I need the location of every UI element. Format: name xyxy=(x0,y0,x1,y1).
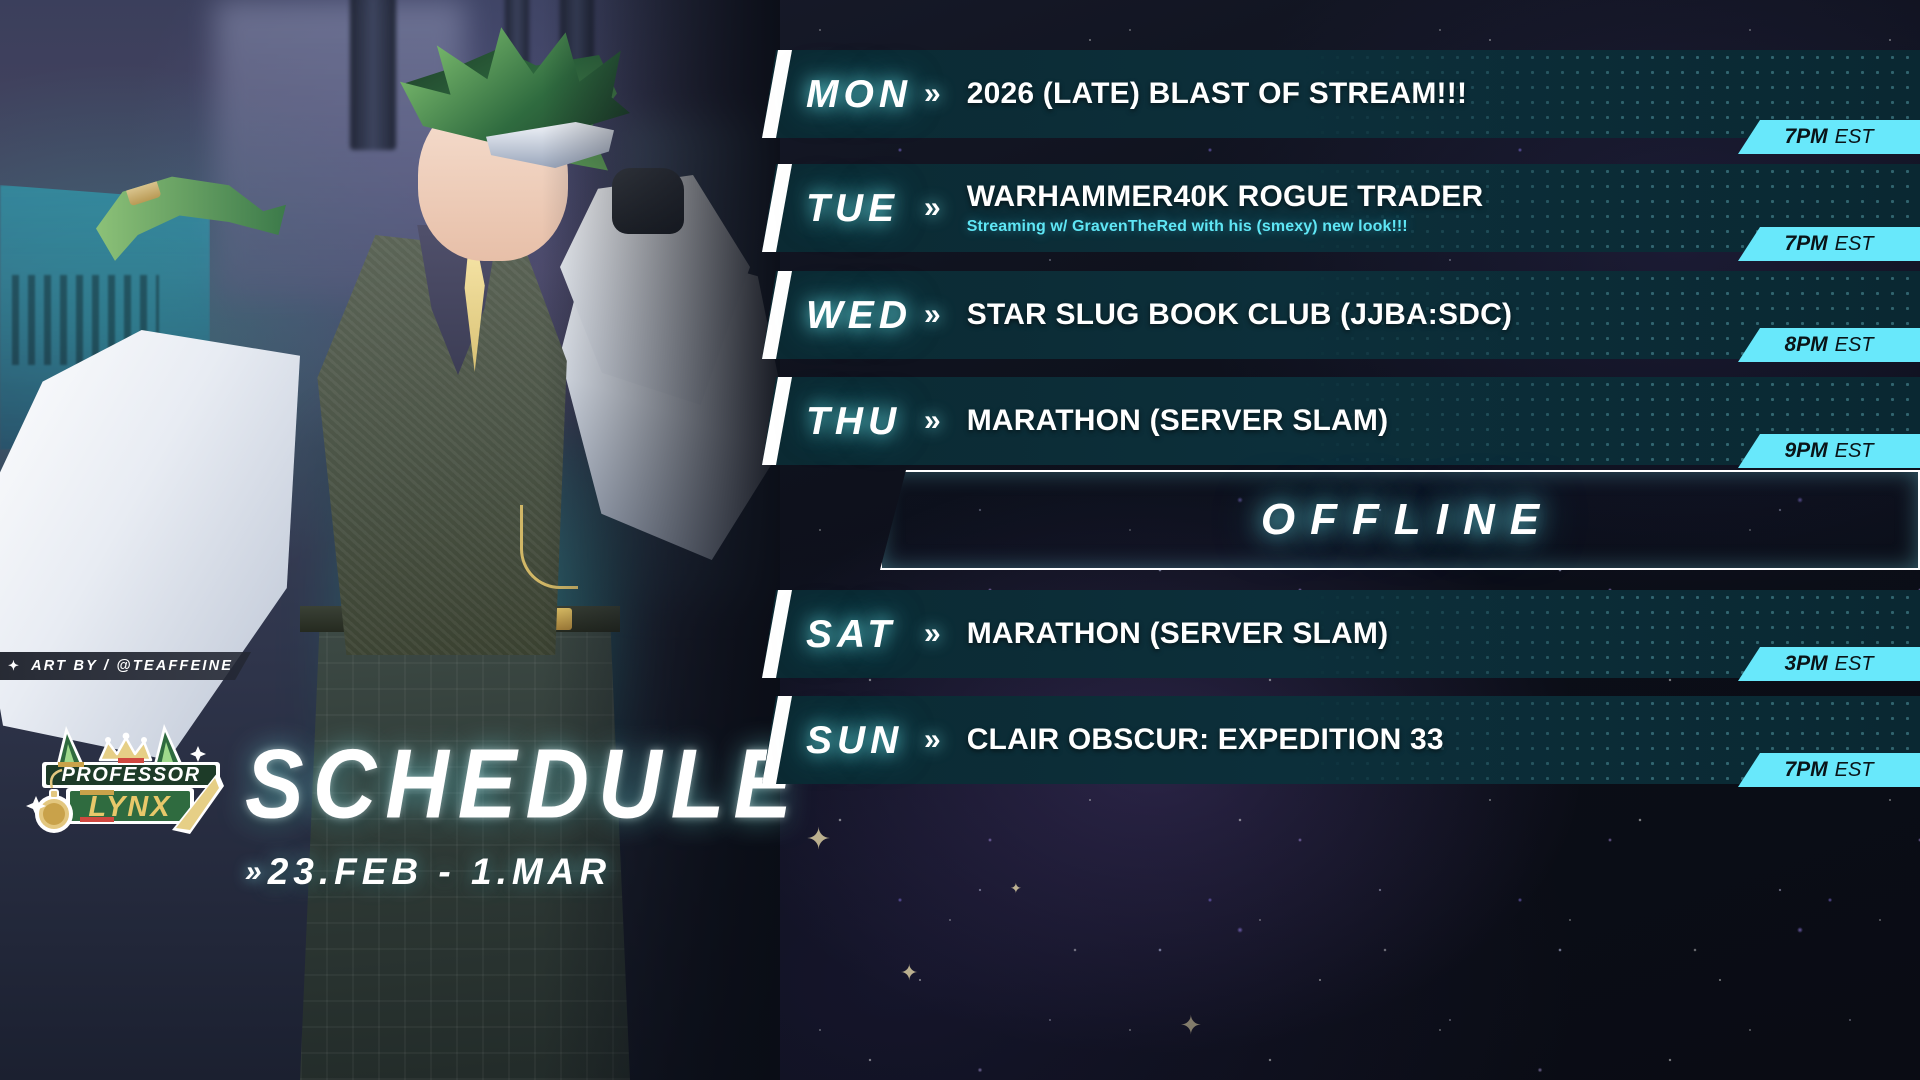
art-edge-fade xyxy=(542,0,780,1080)
schedule-row-wed[interactable]: WED » STAR SLUG BOOK CLUB (JJBA:SDC) xyxy=(762,271,1920,359)
schedule-row-mon[interactable]: MON » 2026 (LATE) BLAST OF STREAM!!! xyxy=(762,50,1920,138)
stream-title: STAR SLUG BOOK CLUB (JJBA:SDC) xyxy=(967,298,1512,333)
chevron-double-right-icon: » xyxy=(924,298,933,332)
stream-title: MARATHON (SERVER SLAM) xyxy=(967,404,1389,439)
page-title: SCHEDULE xyxy=(245,734,765,833)
timezone-label: EST xyxy=(1835,334,1874,357)
day-label-mon: MON xyxy=(806,75,914,114)
chevron-double-right-icon: » xyxy=(924,723,933,757)
art-credit-bar: ✦ ART BY / @TEAFFEINE xyxy=(0,652,251,680)
offline-label: OFFLINE xyxy=(880,470,1920,570)
chevron-double-right-icon: » xyxy=(245,855,256,889)
stream-title: CLAIR OBSCUR: EXPEDITION 33 xyxy=(967,723,1444,758)
time-badge-thu: 9PM EST xyxy=(1738,434,1920,468)
timezone-label: EST xyxy=(1835,233,1874,256)
day-label-sat: SAT xyxy=(806,615,914,654)
schedule-list: MON » 2026 (LATE) BLAST OF STREAM!!! 7PM… xyxy=(762,0,1920,1080)
character-illustration xyxy=(0,0,780,1080)
stream-title: WARHAMMER40K ROGUE TRADER xyxy=(967,180,1484,215)
schedule-row-tue[interactable]: TUE » WARHAMMER40K ROGUE TRADER Streamin… xyxy=(762,164,1920,252)
schedule-graphic: ✦ ART BY / @TEAFFEINE PROFESSOR xyxy=(0,0,1920,1080)
timezone-label: EST xyxy=(1835,440,1874,463)
time-value: 7PM xyxy=(1784,232,1827,256)
stream-title: 2026 (LATE) BLAST OF STREAM!!! xyxy=(967,77,1467,112)
date-range-line: » 23.FEB - 1.MAR xyxy=(245,851,765,893)
chevron-double-right-icon: » xyxy=(924,191,933,225)
time-value: 7PM xyxy=(1784,125,1827,149)
date-range-text: 23.FEB - 1.MAR xyxy=(268,851,611,893)
chevron-double-right-icon: » xyxy=(924,617,933,651)
day-label-sun: SUN xyxy=(806,721,914,760)
stream-title: MARATHON (SERVER SLAM) xyxy=(967,617,1389,652)
time-badge-sun: 7PM EST xyxy=(1738,753,1920,787)
time-badge-mon: 7PM EST xyxy=(1738,120,1920,154)
day-label-tue: TUE xyxy=(806,189,914,228)
chevron-double-right-icon: » xyxy=(924,404,933,438)
sparkle-icon: ✦ xyxy=(8,658,21,674)
timezone-label: EST xyxy=(1835,759,1874,782)
time-value: 7PM xyxy=(1784,758,1827,782)
logo-professor-text: PROFESSOR xyxy=(61,764,200,786)
chevron-double-right-icon: » xyxy=(924,77,933,111)
day-label-thu: THU xyxy=(806,402,914,441)
schedule-row-sat[interactable]: SAT » MARATHON (SERVER SLAM) xyxy=(762,590,1920,678)
day-label-wed: WED xyxy=(806,296,914,335)
lab-coat-left xyxy=(0,330,300,760)
art-credit-text: ART BY / @TEAFFEINE xyxy=(31,658,233,674)
time-value: 3PM xyxy=(1784,652,1827,676)
timezone-label: EST xyxy=(1835,126,1874,149)
time-value: 8PM xyxy=(1784,333,1827,357)
time-badge-sat: 3PM EST xyxy=(1738,647,1920,681)
schedule-row-sun[interactable]: SUN » CLAIR OBSCUR: EXPEDITION 33 xyxy=(762,696,1920,784)
schedule-row-offline: OFFLINE xyxy=(880,470,1920,570)
character-tail xyxy=(96,168,286,276)
schedule-title-block: SCHEDULE » 23.FEB - 1.MAR xyxy=(245,745,765,893)
timezone-label: EST xyxy=(1835,653,1874,676)
time-badge-tue: 7PM EST xyxy=(1738,227,1920,261)
professor-lynx-logo: PROFESSOR LYNX xyxy=(22,718,242,838)
time-value: 9PM xyxy=(1784,439,1827,463)
schedule-row-thu[interactable]: THU » MARATHON (SERVER SLAM) xyxy=(762,377,1920,465)
stream-subtitle: Streaming w/ GravenTheRed with his (smex… xyxy=(967,218,1484,236)
time-badge-wed: 8PM EST xyxy=(1738,328,1920,362)
logo-lynx-text: LYNX xyxy=(88,791,171,823)
